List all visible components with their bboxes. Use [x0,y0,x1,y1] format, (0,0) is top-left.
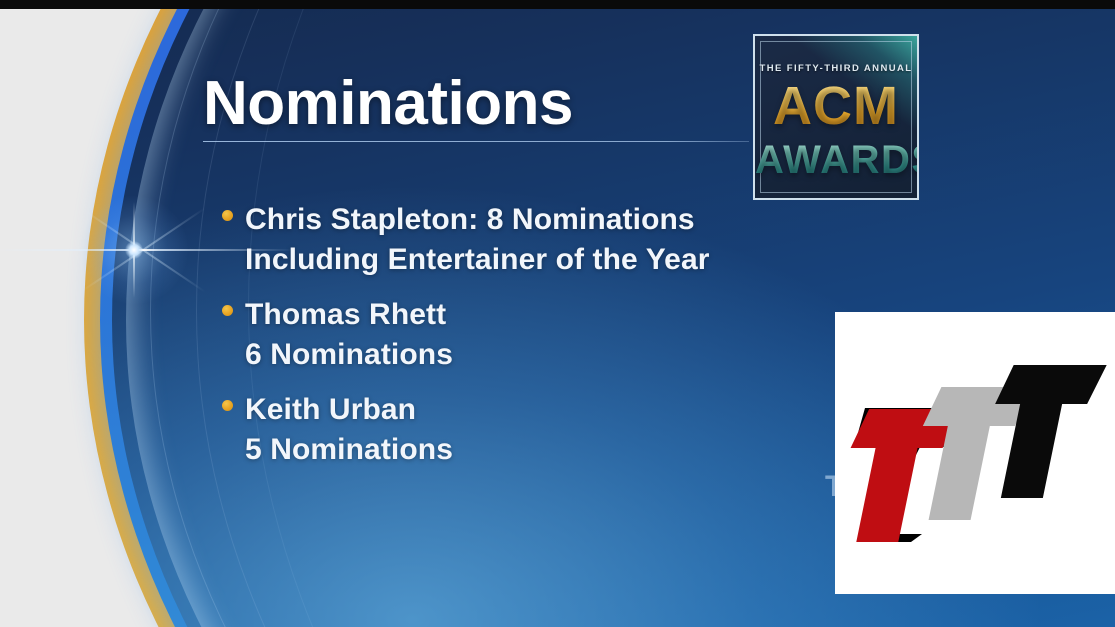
bullet-dot-icon [222,400,233,411]
bullet-line-secondary: 6 Nominations [245,335,842,375]
ttt-logo-icon [835,312,1115,594]
bullet-dot-icon [222,305,233,316]
page-title: Nominations [203,68,573,139]
bullet-line-primary: Thomas Rhett [245,295,842,335]
title-divider [203,141,749,142]
list-item: Thomas Rhett 6 Nominations [222,295,842,375]
ttt-glyph-black [977,365,1107,498]
station-logo [835,312,1115,594]
acm-awards-wordmark: AWARDS [755,139,917,181]
bullet-line-secondary: Including Entertainer of the Year [245,240,842,280]
bullet-dot-icon [222,210,233,221]
bullet-list: Chris Stapleton: 8 Nominations Including… [222,200,842,485]
acm-wordmark: ACM [755,78,917,134]
slide-screenshot: Nominations Chris Stapleton: 8 Nominatio… [0,0,1115,627]
list-item: Keith Urban 5 Nominations [222,390,842,470]
top-letterbox-bar [0,0,1115,9]
bullet-line-primary: Keith Urban [245,390,842,430]
bullet-line-secondary: 5 Nominations [245,430,842,470]
list-item: Chris Stapleton: 8 Nominations Including… [222,200,842,280]
lens-flare-core [125,241,143,259]
bullet-line-primary: Chris Stapleton: 8 Nominations [245,200,842,240]
acm-awards-logo: THE FIFTY-THIRD ANNUAL ACM AWARDS [753,34,919,200]
acm-annual-text: THE FIFTY-THIRD ANNUAL [755,63,917,74]
